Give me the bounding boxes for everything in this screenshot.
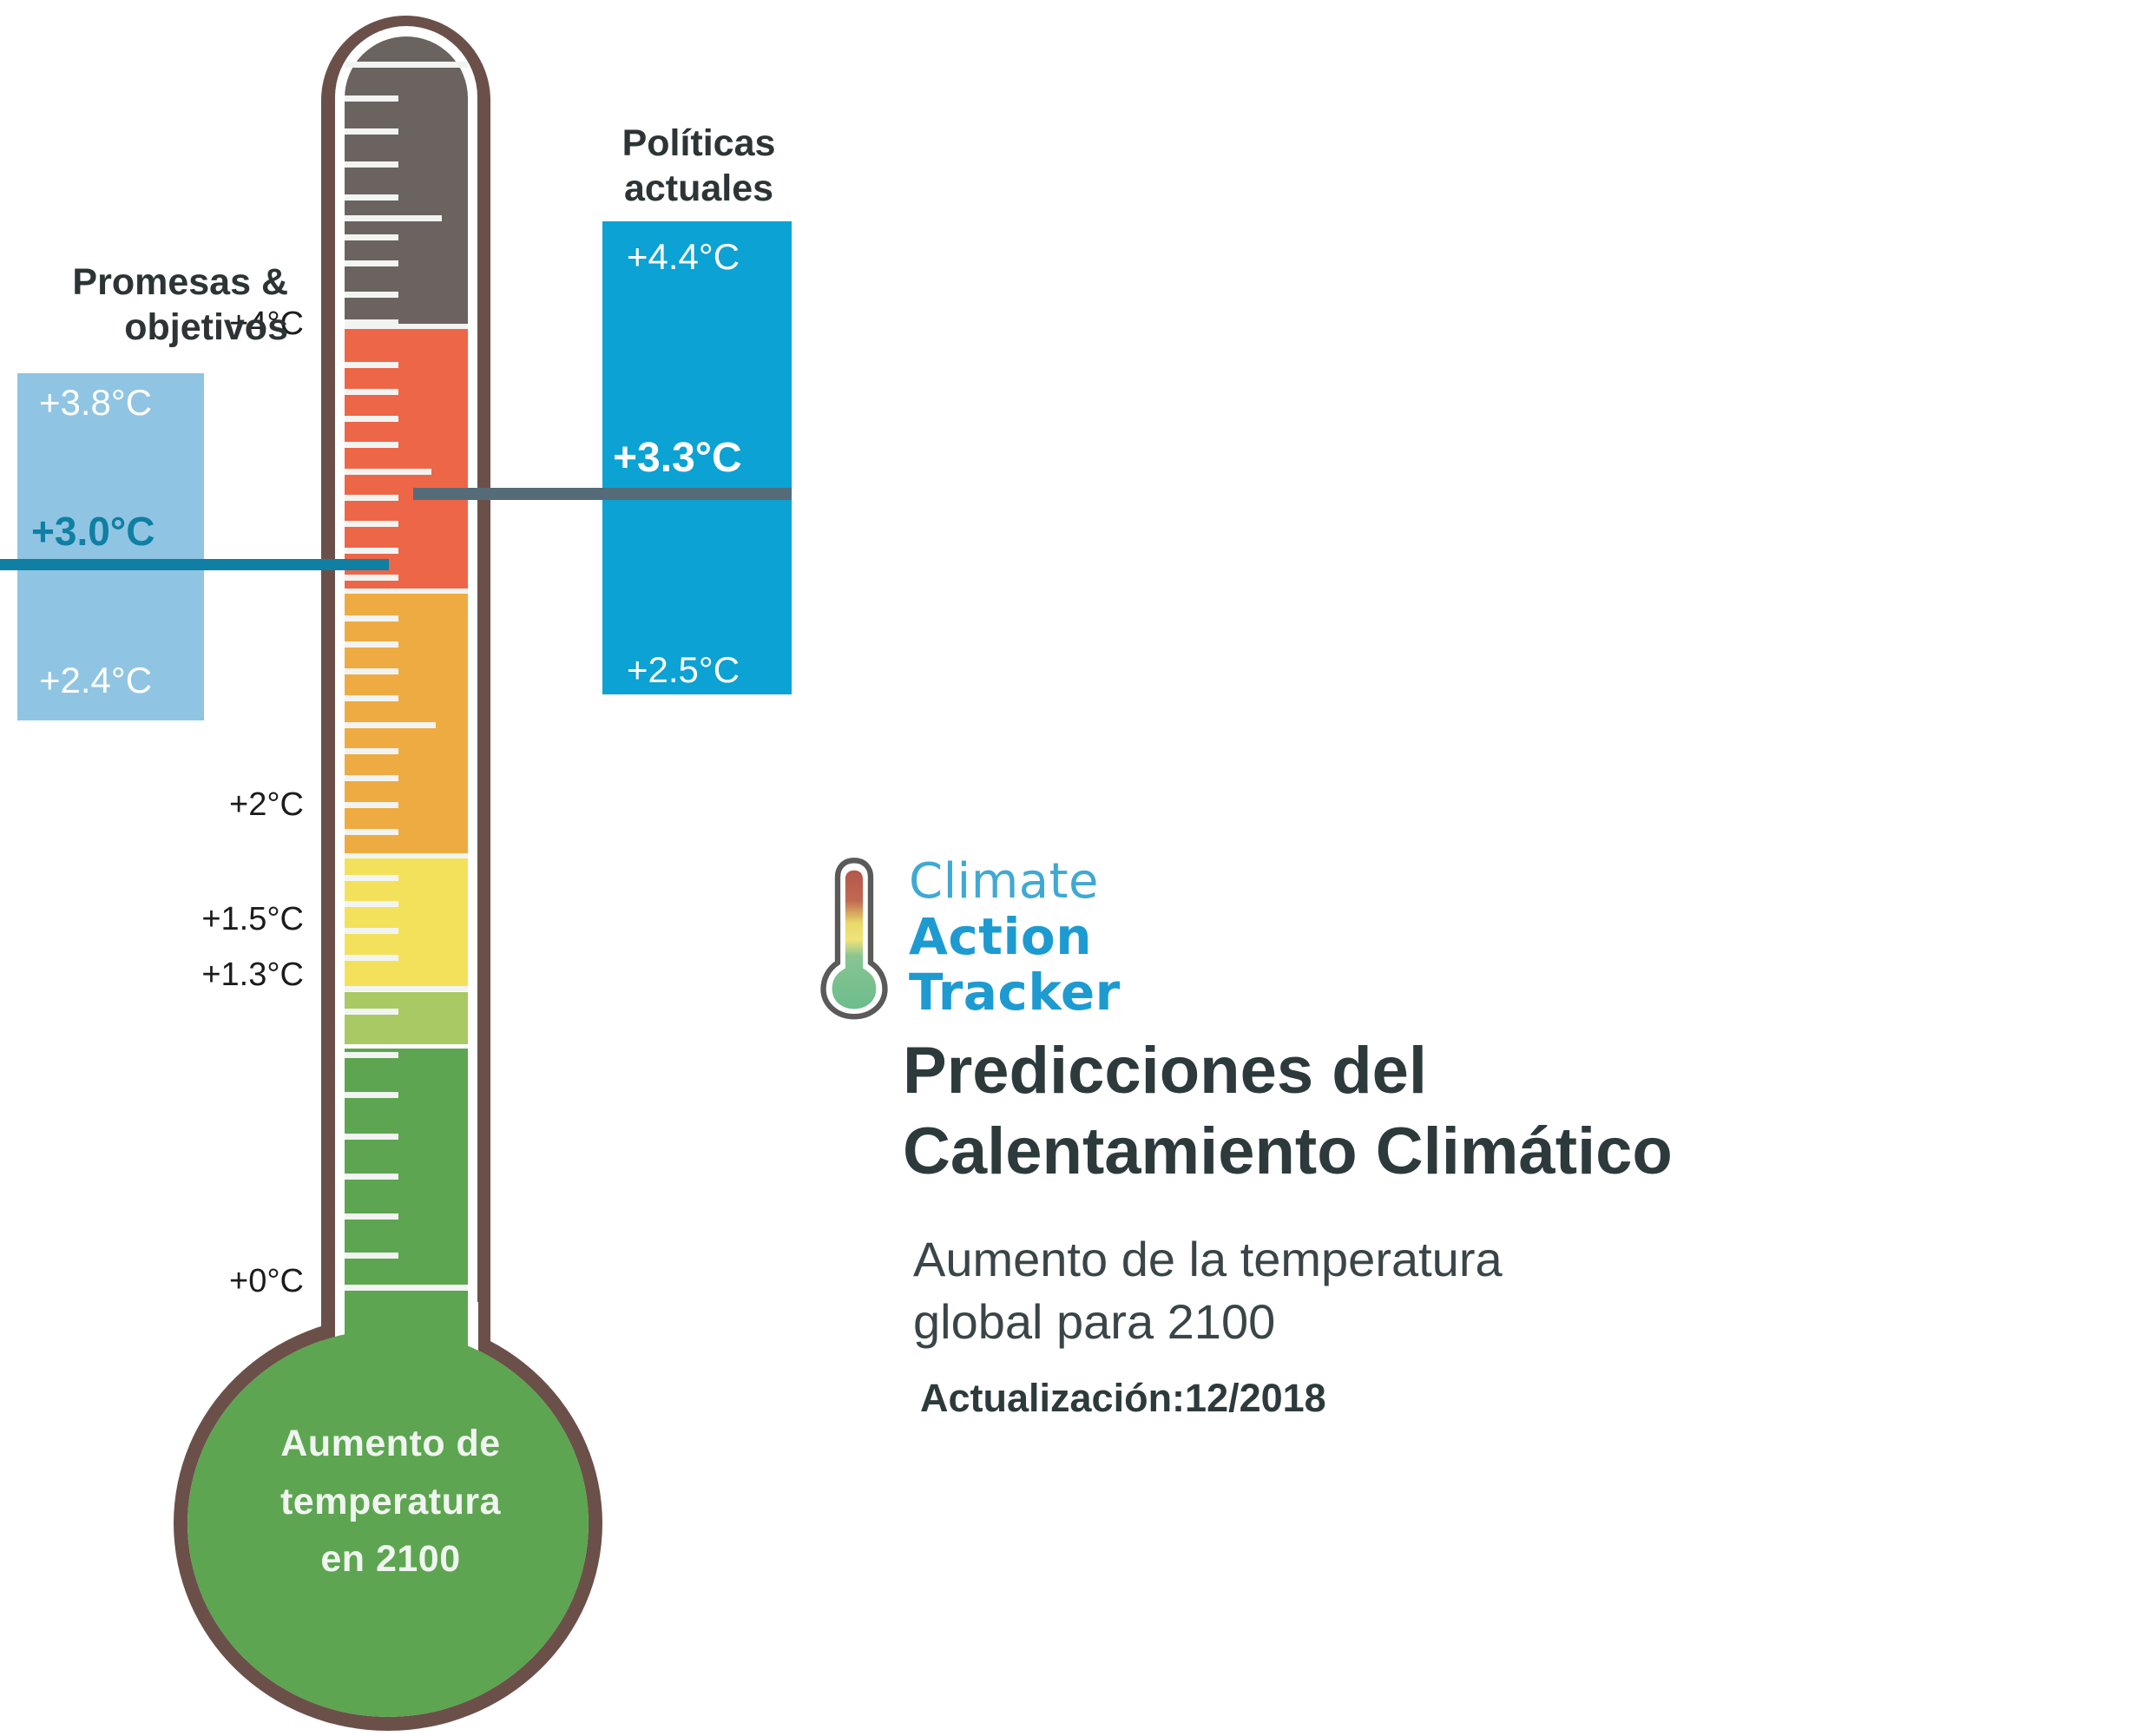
- pledges-high-value: +3.8°C: [39, 382, 152, 424]
- policies-midpoint-line: [413, 488, 792, 500]
- pledges-midpoint-line: [0, 559, 389, 570]
- axis-label-0c: +0°C: [156, 1263, 304, 1300]
- page-title-line-1: Predicciones del: [903, 1031, 1858, 1112]
- update-date: Actualización:12/2018: [920, 1376, 1326, 1421]
- page-subtitle-line-1: Aumento de la temperatura: [913, 1228, 1781, 1291]
- pledges-low-value: +2.4°C: [39, 660, 152, 701]
- pledges-mid-value: +3.0°C: [31, 508, 155, 555]
- axis-label-1-5c: +1.5°C: [139, 901, 304, 938]
- infographic-canvas: +4°C +2°C +1.5°C +1.3°C +0°C Aumento de …: [0, 0, 2144, 1736]
- policies-heading-line-2: actuales: [599, 167, 799, 212]
- page-title-line-2: Calentamiento Climático: [903, 1112, 1858, 1193]
- bulb-caption-line-2: temperatura: [208, 1473, 573, 1531]
- brand-word-tracker: Tracker: [909, 967, 1121, 1017]
- pledges-heading-line-1: Promesas &: [19, 260, 288, 306]
- page-subtitle: Aumento de la temperatura global para 21…: [913, 1228, 1781, 1352]
- bulb-caption-line-3: en 2100: [208, 1530, 573, 1588]
- thermometer-scale-column: [345, 36, 468, 1338]
- policies-mid-value: +3.3°C: [613, 434, 742, 482]
- policies-heading-line-1: Políticas: [599, 122, 799, 167]
- bulb-caption: Aumento de temperatura en 2100: [208, 1415, 573, 1588]
- bulb-caption-line-1: Aumento de: [208, 1415, 573, 1473]
- policies-low-value: +2.5°C: [627, 649, 740, 691]
- pledges-heading-line-2: objetivos: [19, 306, 288, 351]
- pledges-heading: Promesas & objetivos: [19, 260, 288, 350]
- policies-high-value: +4.4°C: [627, 236, 740, 278]
- policies-heading: Políticas actuales: [599, 122, 799, 211]
- brand-word-climate: Climate: [909, 858, 1121, 906]
- axis-label-2c: +2°C: [156, 786, 304, 824]
- brand-word-action: Action: [909, 911, 1121, 962]
- page-subtitle-line-2: global para 2100: [913, 1291, 1781, 1353]
- climate-action-tracker-logo: Climate Action Tracker: [820, 855, 1121, 1020]
- band-1-3-to-1-5c: [345, 992, 468, 1044]
- thermometer-icon: [820, 855, 888, 1020]
- band-above-4c: [345, 36, 468, 324]
- axis-label-1-3c: +1.3°C: [139, 957, 304, 994]
- page-title: Predicciones del Calentamiento Climático: [903, 1031, 1858, 1192]
